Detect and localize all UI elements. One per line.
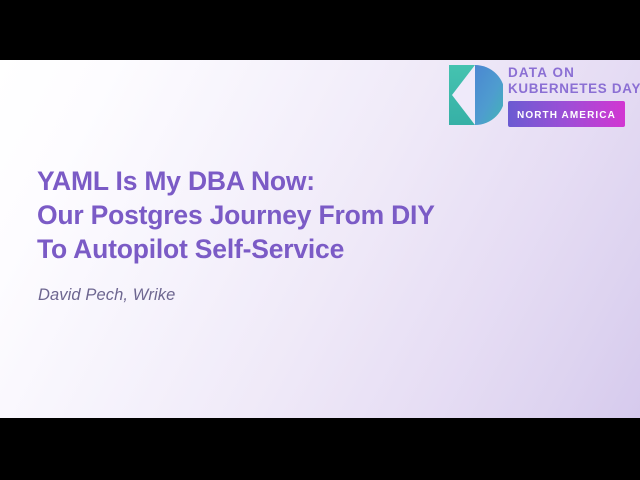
event-logo-lockup: DATA ON KUBERNETES DAY NORTH AMERICA [447,63,633,131]
slide-canvas: DATA ON KUBERNETES DAY NORTH AMERICA YAM… [0,60,640,418]
wordmark-line-1: DATA ON [508,65,633,81]
kubernetes-day-monogram-icon [447,63,503,127]
region-badge: NORTH AMERICA [508,101,625,127]
title-line-1: YAML Is My DBA Now: [37,164,597,198]
region-badge-label: NORTH AMERICA [517,110,616,121]
letterbox-bar-bottom [0,418,640,480]
letterbox-bar-top [0,0,640,60]
event-wordmark: DATA ON KUBERNETES DAY NORTH AMERICA [508,65,633,127]
title-line-2: Our Postgres Journey From DIY [37,198,597,232]
talk-title: YAML Is My DBA Now: Our Postgres Journey… [37,164,597,266]
title-line-3: To Autopilot Self-Service [37,232,597,266]
speaker-name-and-affiliation: David Pech, Wrike [38,285,175,305]
wordmark-line-2: KUBERNETES DAY [508,81,633,97]
video-slide-frame: DATA ON KUBERNETES DAY NORTH AMERICA YAM… [0,0,640,480]
